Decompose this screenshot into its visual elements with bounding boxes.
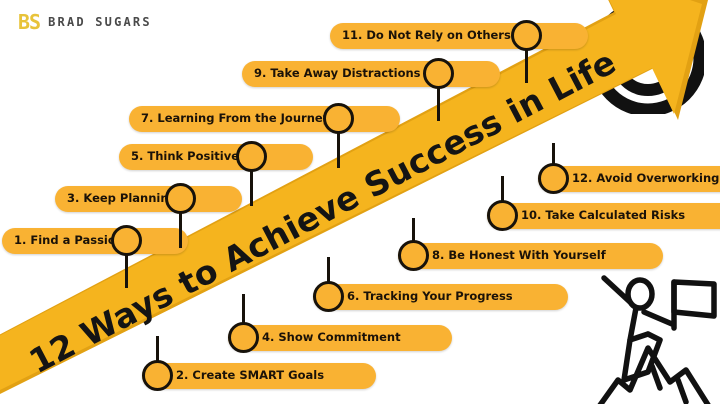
pin-stem-7 [337,132,340,168]
pin-marker-3[interactable]: 3. Keep Planning [55,186,196,212]
pin-knob-circle-4 [228,322,259,353]
pin-label-pill-9: 9. Take Away Distractions [242,61,500,87]
pin-label-text-10: 10. Take Calculated Risks [521,210,685,222]
pin-knob-circle-5 [236,141,267,172]
pin-marker-2[interactable]: 2. Create SMART Goals [142,363,328,389]
pin-marker-4[interactable]: 4. Show Commitment [228,325,404,351]
brand-logo: BS BRAD SUGARS [18,12,152,32]
pin-label-pill-1: 1. Find a Passion [2,228,188,254]
pin-label-pill-10: 10. Take Calculated Risks [487,203,720,229]
pin-marker-8[interactable]: 8. Be Honest With Yourself [398,243,615,269]
pin-label-text-11: 11. Do Not Rely on Others [342,30,511,42]
pin-label-pill-5: 5. Think Positively [119,144,313,170]
pin-label-text-1: 1. Find a Passion [14,235,124,247]
pin-stem-11 [525,49,528,83]
pin-label-text-2: 2. Create SMART Goals [176,370,324,382]
pin-label-pill-4: 4. Show Commitment [228,325,452,351]
pin-marker-9[interactable]: 9. Take Away Distractions [242,61,454,87]
infographic-canvas: BS BRAD SUGARS 12 Ways to Achieve Succes… [0,0,720,404]
pin-label-pill-2: 2. Create SMART Goals [142,363,376,389]
pin-label-pill-7: 7. Learning From the Journey [129,106,400,132]
pin-marker-10[interactable]: 10. Take Calculated Risks [487,203,690,229]
pin-knob-circle-12 [538,163,569,194]
pin-stem-3 [179,212,182,248]
pin-label-text-8: 8. Be Honest With Yourself [432,250,606,262]
pin-label-text-7: 7. Learning From the Journey [141,113,330,125]
pin-label-pill-11: 11. Do Not Rely on Others [330,23,588,49]
pin-knob-circle-8 [398,240,429,271]
pin-label-text-6: 6. Tracking Your Progress [347,291,513,303]
pin-marker-6[interactable]: 6. Tracking Your Progress [313,284,520,310]
pin-marker-11[interactable]: 11. Do Not Rely on Others [330,23,542,49]
pin-knob-circle-7 [323,103,354,134]
pin-stem-9 [437,87,440,121]
pin-knob-circle-11 [511,20,542,51]
pin-stem-5 [250,170,253,206]
pin-label-text-5: 5. Think Positively [131,151,250,163]
pin-knob-circle-3 [165,183,196,214]
pin-marker-7[interactable]: 7. Learning From the Journey [129,106,354,132]
pin-marker-5[interactable]: 5. Think Positively [119,144,267,170]
pin-stem-1 [125,254,128,288]
pin-marker-12[interactable]: 12. Avoid Overworking [538,166,720,192]
pin-label-text-4: 4. Show Commitment [262,332,401,344]
pin-marker-1[interactable]: 1. Find a Passion [2,228,142,254]
person-on-mountain-with-flag-icon [574,262,720,404]
bullseye-target-icon [592,2,704,114]
pin-knob-circle-2 [142,360,173,391]
pin-label-text-12: 12. Avoid Overworking [572,173,719,185]
pin-knob-circle-9 [423,58,454,89]
pin-knob-circle-6 [313,281,344,312]
pin-label-pill-6: 6. Tracking Your Progress [313,284,568,310]
pin-label-text-9: 9. Take Away Distractions [254,68,421,80]
brand-monogram: BS [18,12,40,32]
pin-label-text-3: 3. Keep Planning [67,193,177,205]
pin-label-pill-3: 3. Keep Planning [55,186,242,212]
pin-knob-circle-10 [487,200,518,231]
pin-label-pill-8: 8. Be Honest With Yourself [398,243,663,269]
brand-wordmark: BRAD SUGARS [48,16,152,28]
pin-knob-circle-1 [111,225,142,256]
